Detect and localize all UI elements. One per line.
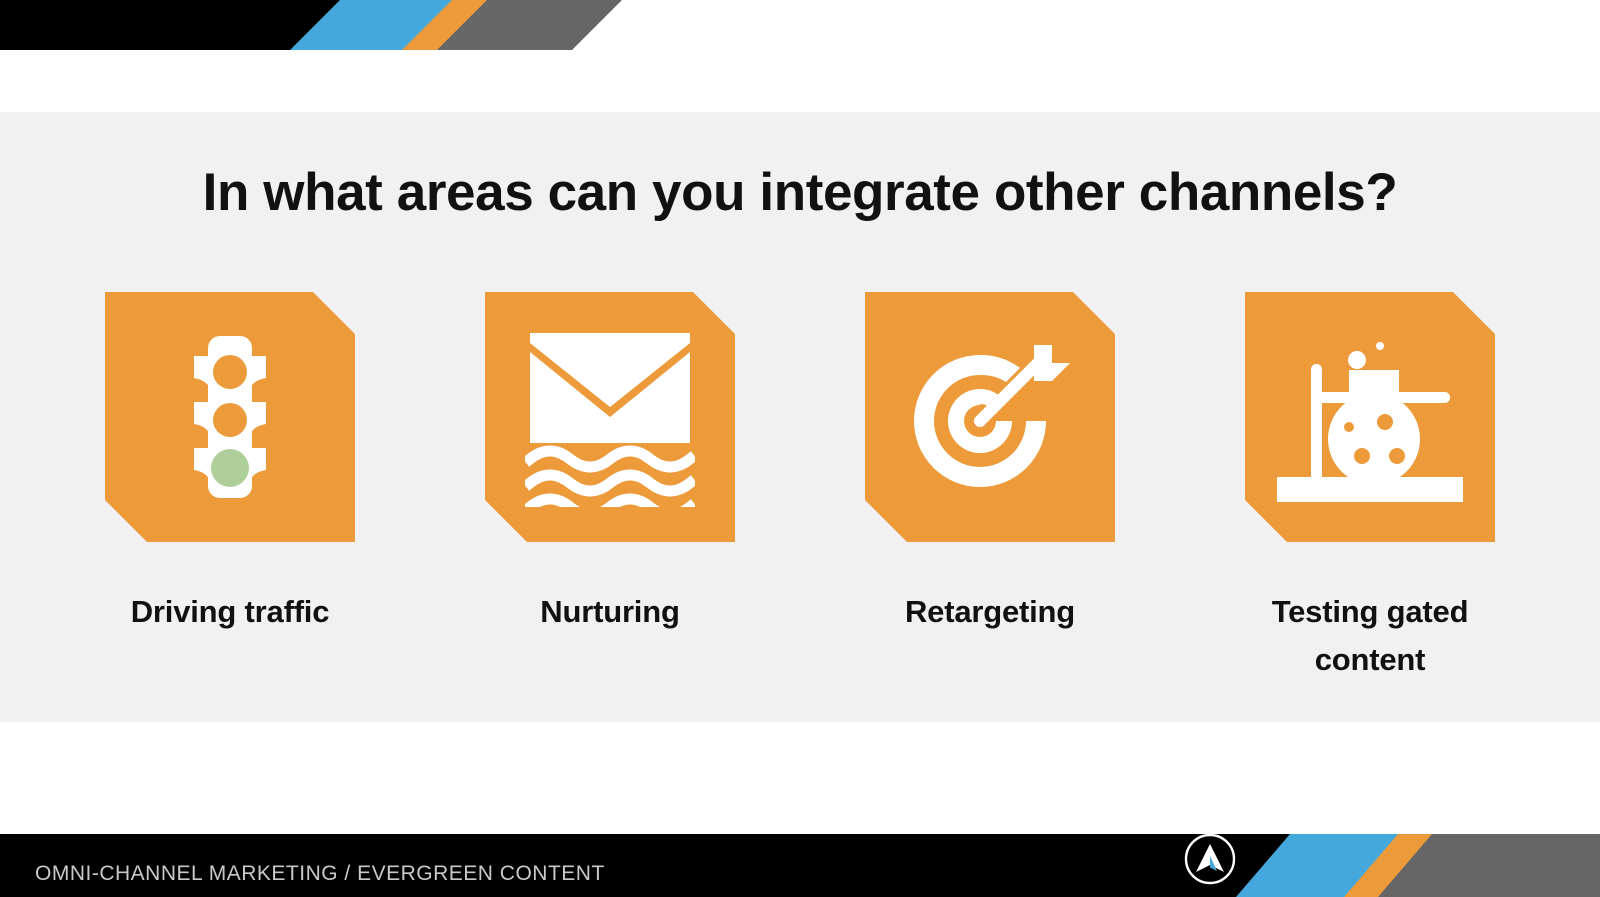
- card-label: Nurturing: [540, 588, 679, 636]
- card-driving-traffic[interactable]: Driving traffic: [60, 292, 400, 636]
- card-icon-tile: [485, 292, 735, 542]
- card-icon-tile: [105, 292, 355, 542]
- card-nurturing[interactable]: Nurturing: [440, 292, 780, 636]
- lab-flask-icon: [1275, 322, 1465, 512]
- traffic-light-icon: [150, 332, 310, 502]
- envelope-waves-icon: [525, 327, 695, 507]
- card-label: Driving traffic: [131, 588, 330, 636]
- footer-text: OMNI-CHANNEL MARKETING / EVERGREEN CONTE…: [35, 862, 605, 886]
- card-row: Driving traffic: [60, 292, 1540, 684]
- card-label: Testing gated content: [1220, 588, 1520, 684]
- footer-bar: OMNI-CHANNEL MARKETING / EVERGREEN CONTE…: [0, 822, 1600, 897]
- arrow-circle-logo: [1183, 832, 1237, 886]
- page-title: In what areas can you integrate other ch…: [0, 164, 1600, 222]
- card-retargeting[interactable]: Retargeting: [820, 292, 1160, 636]
- target-arrow-icon: [900, 327, 1080, 507]
- card-icon-tile: [865, 292, 1115, 542]
- top-banner-decoration: [0, 0, 1600, 50]
- card-testing-gated-content[interactable]: Testing gated content: [1200, 292, 1540, 684]
- card-icon-tile: [1245, 292, 1495, 542]
- card-label: Retargeting: [905, 588, 1075, 636]
- content-panel: In what areas can you integrate other ch…: [0, 112, 1600, 722]
